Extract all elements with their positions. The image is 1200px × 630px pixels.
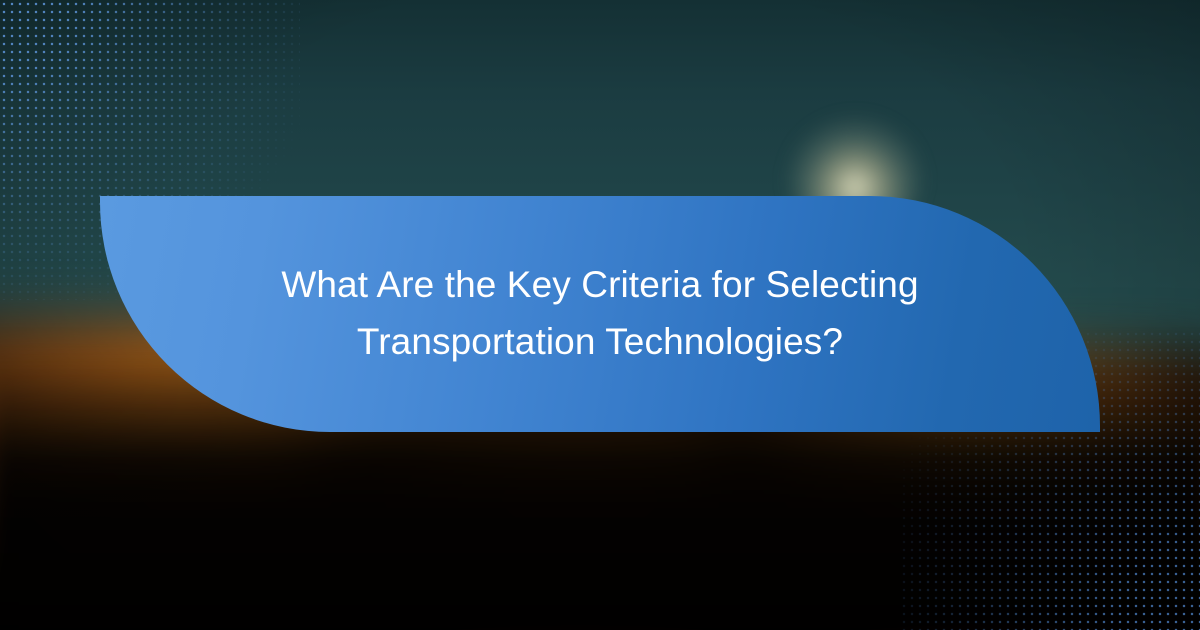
title-card: What Are the Key Criteria for Selecting … bbox=[100, 196, 1100, 432]
social-card-canvas: What Are the Key Criteria for Selecting … bbox=[0, 0, 1200, 630]
page-title: What Are the Key Criteria for Selecting … bbox=[220, 257, 980, 370]
